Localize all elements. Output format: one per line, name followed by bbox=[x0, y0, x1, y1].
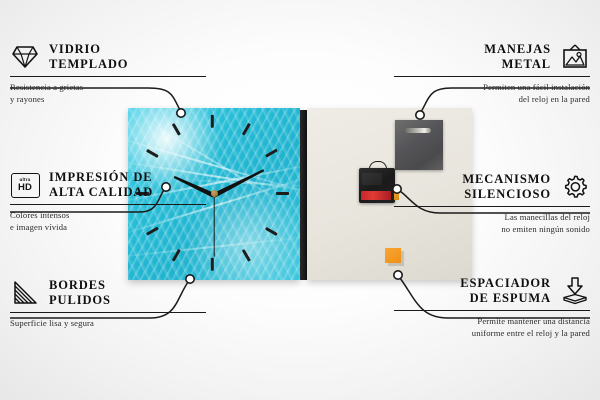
metal-hanger-plate bbox=[395, 120, 443, 170]
feature-rule bbox=[10, 76, 206, 77]
clock-marker bbox=[276, 192, 289, 195]
arrow-down-onto-pad-icon bbox=[560, 276, 590, 306]
clock-edge bbox=[300, 110, 307, 280]
feature-rule bbox=[10, 204, 206, 205]
clock-marker bbox=[242, 123, 251, 136]
feature-manejas-metal: MANEJASMETAL Permiten una fácil instalac… bbox=[394, 40, 590, 105]
gear-icon bbox=[560, 172, 590, 202]
mechanism-detail bbox=[362, 173, 382, 185]
hanger-slot bbox=[405, 128, 431, 133]
feature-vidrio-templado: VIDRIOTEMPLADO Resistencia a grietasy ra… bbox=[10, 40, 206, 105]
clock-marker bbox=[172, 123, 181, 136]
feature-description: Resistencia a grietasy rayones bbox=[10, 81, 206, 105]
foam-spacer bbox=[385, 248, 401, 263]
feature-rule bbox=[394, 206, 590, 207]
feature-title: MANEJASMETAL bbox=[484, 42, 551, 73]
ultra-hd-badge-icon: ultra HD bbox=[10, 170, 40, 200]
feature-bordes-pulidos: BORDESPULIDOS Superficie lisa y segura bbox=[10, 276, 206, 329]
feature-title: ESPACIADORDE ESPUMA bbox=[460, 276, 551, 307]
feature-description: Superficie lisa y segura bbox=[10, 317, 206, 329]
polished-edge-hatch-icon bbox=[10, 278, 40, 308]
clock-marker bbox=[265, 227, 278, 236]
picture-frame-hanger-icon bbox=[560, 42, 590, 72]
feature-title: IMPRESIÓN DEALTA CALIDAD bbox=[49, 170, 153, 201]
diamond-icon bbox=[10, 42, 40, 72]
hd-label: HD bbox=[18, 183, 32, 193]
feature-description: Colores intensose imagen vívida bbox=[10, 209, 206, 233]
battery-compartment bbox=[361, 191, 391, 200]
clock-marker bbox=[211, 258, 214, 271]
feature-impresion-alta-calidad: ultra HD IMPRESIÓN DEALTA CALIDAD Colore… bbox=[10, 168, 206, 233]
clock-mechanism bbox=[359, 165, 395, 203]
feature-description: Permiten una fácil instalacióndel reloj … bbox=[394, 81, 590, 105]
clock-center-cap bbox=[211, 190, 218, 197]
feature-title: BORDESPULIDOS bbox=[49, 278, 111, 309]
mechanism-body bbox=[359, 168, 395, 203]
feature-rule bbox=[10, 312, 206, 313]
feature-title: MECANISMOSILENCIOSO bbox=[462, 172, 551, 203]
clock-second-hand bbox=[213, 195, 214, 257]
feature-description: Las manecillas del relojno emiten ningún… bbox=[394, 211, 590, 235]
clock-marker bbox=[265, 149, 278, 158]
feature-rule bbox=[394, 310, 590, 311]
clock-marker bbox=[211, 115, 214, 128]
feature-mecanismo-silencioso: MECANISMOSILENCIOSO Las manecillas del r… bbox=[394, 170, 590, 235]
feature-title: VIDRIOTEMPLADO bbox=[49, 42, 128, 73]
infographic-canvas: VIDRIOTEMPLADO Resistencia a grietasy ra… bbox=[0, 0, 600, 400]
feature-espaciador-espuma: ESPACIADORDE ESPUMA Permite mantener una… bbox=[394, 274, 590, 339]
clock-marker bbox=[242, 249, 251, 262]
feature-rule bbox=[394, 76, 590, 77]
feature-description: Permite mantener una distanciauniforme e… bbox=[394, 315, 590, 339]
